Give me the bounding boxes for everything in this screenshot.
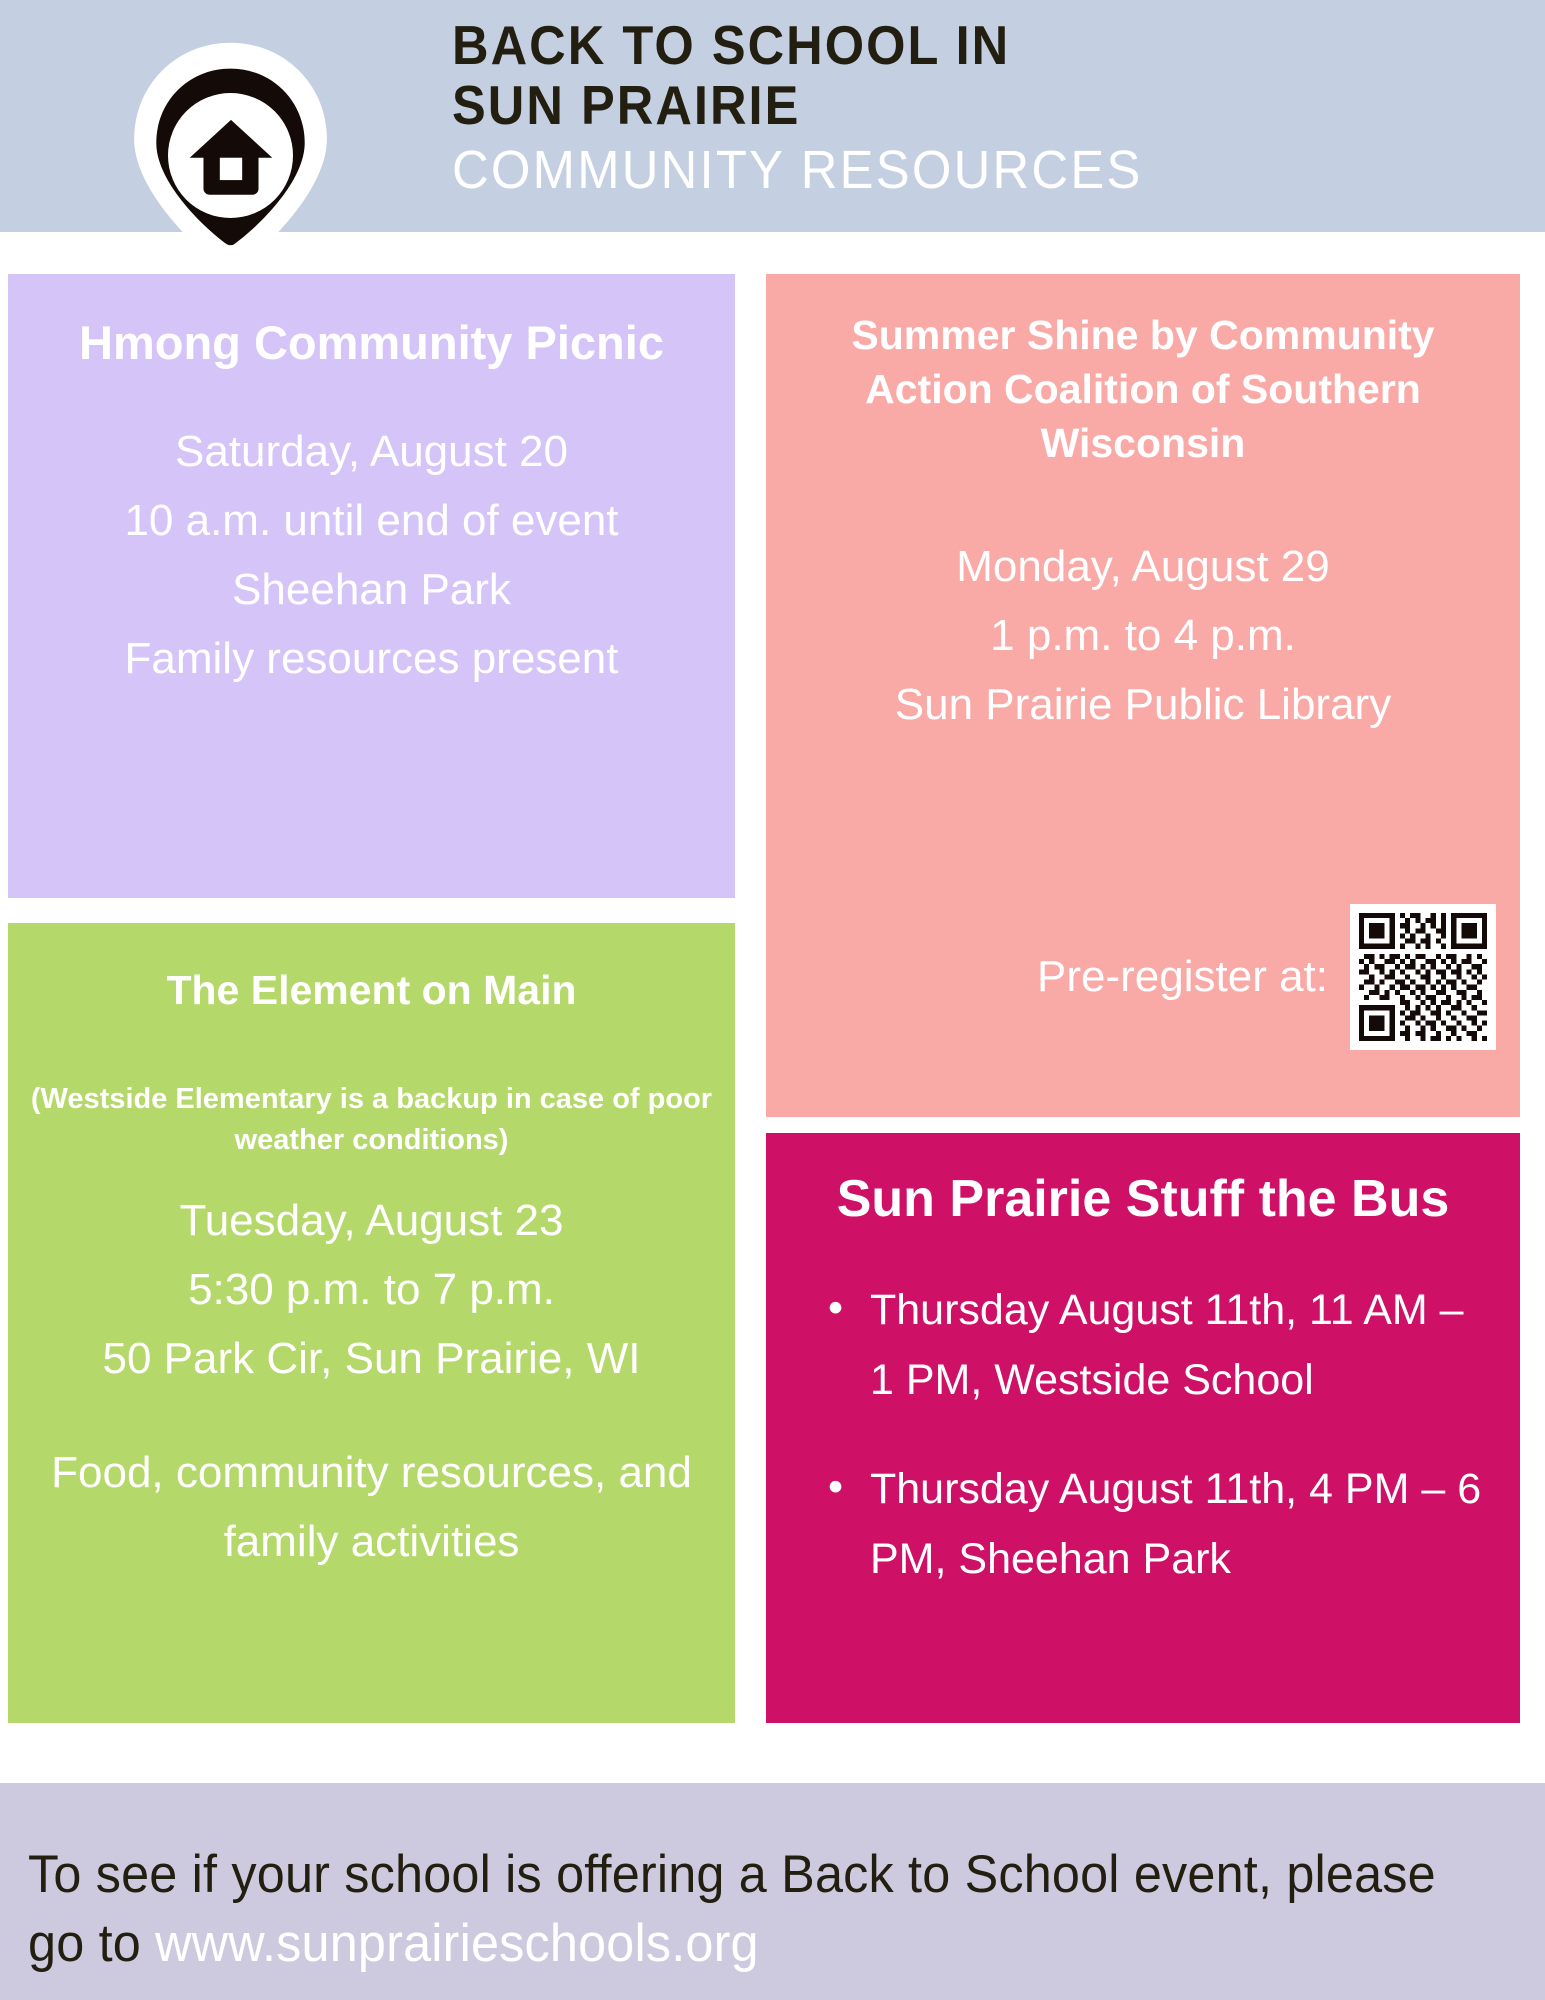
event-date: Monday, August 29 bbox=[792, 532, 1494, 601]
event-detail: Family resources present bbox=[34, 624, 709, 693]
card-hmong-community-picnic: Hmong Community Picnic Saturday, August … bbox=[8, 274, 735, 898]
footer-message: To see if your school is offering a Back… bbox=[28, 1841, 1443, 1979]
house-icon bbox=[188, 116, 274, 196]
card-the-element-on-main: The Element on Main (Westside Elementary… bbox=[8, 923, 735, 1723]
header-title-block: BACK TO SCHOOL IN SUN PRAIRIE COMMUNITY … bbox=[452, 16, 1512, 200]
event-bullet-list: Thursday August 11th, 11 AM – 1 PM, West… bbox=[792, 1276, 1494, 1595]
card-sun-prairie-stuff-the-bus: Sun Prairie Stuff the Bus Thursday Augus… bbox=[766, 1133, 1520, 1723]
website-url[interactable]: www.sunprairieschools.org bbox=[155, 1914, 759, 1973]
event-time: 1 p.m. to 4 p.m. bbox=[792, 601, 1494, 670]
card-title: The Element on Main bbox=[26, 959, 717, 1017]
event-date: Tuesday, August 23 bbox=[26, 1186, 717, 1255]
card-note: (Westside Elementary is a backup in case… bbox=[26, 1079, 717, 1160]
event-detail: Food, community resources, and family ac… bbox=[26, 1438, 717, 1576]
page-title-line-2: SUN PRAIRIE bbox=[452, 76, 1427, 136]
pre-register-label: Pre-register at: bbox=[1037, 952, 1328, 1002]
page-footer: To see if your school is offering a Back… bbox=[0, 1783, 1545, 2000]
list-item: Thursday August 11th, 11 AM – 1 PM, West… bbox=[828, 1276, 1484, 1415]
event-location: Sheehan Park bbox=[34, 555, 709, 624]
page-subtitle: COMMUNITY RESOURCES bbox=[452, 140, 1448, 200]
event-time: 5:30 p.m. to 7 p.m. bbox=[26, 1255, 717, 1324]
event-date: Saturday, August 20 bbox=[34, 417, 709, 486]
card-title: Hmong Community Picnic bbox=[34, 312, 709, 373]
pre-register-row: Pre-register at: bbox=[792, 904, 1496, 1050]
page-title-line-1: BACK TO SCHOOL IN bbox=[452, 16, 1427, 76]
map-pin-house-icon bbox=[113, 38, 348, 273]
qr-code-icon[interactable] bbox=[1350, 904, 1496, 1050]
card-summer-shine: Summer Shine by Community Action Coaliti… bbox=[766, 274, 1520, 1117]
event-location: Sun Prairie Public Library bbox=[792, 670, 1494, 739]
event-address: 50 Park Cir, Sun Prairie, WI bbox=[26, 1324, 717, 1393]
list-item: Thursday August 11th, 4 PM – 6 PM, Sheeh… bbox=[828, 1455, 1484, 1594]
card-title: Sun Prairie Stuff the Bus bbox=[792, 1167, 1494, 1232]
event-time: 10 a.m. until end of event bbox=[34, 486, 709, 555]
card-title: Summer Shine by Community Action Coaliti… bbox=[792, 308, 1494, 470]
